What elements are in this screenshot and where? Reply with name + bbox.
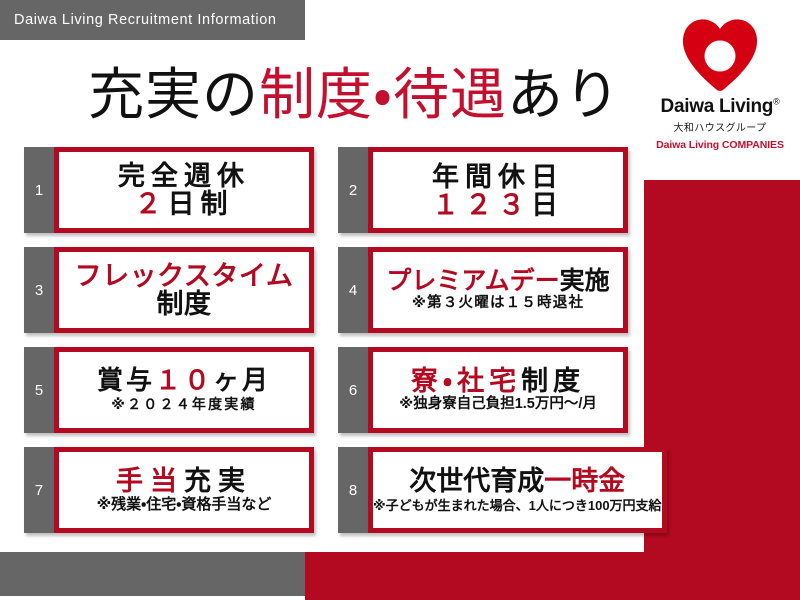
company-logo: Daiwa Living® 大和ハウスグループ Daiwa Living COM… [645,18,795,151]
benefit-number-1: 1 [24,147,54,233]
page-title: 充実の制度・待遇あり [88,52,621,128]
benefit-title-6-dark: 制度 [521,366,585,396]
benefit-box-6: 寮・社宅制度 ※独身寮自己負担1.5万円〜/月 [368,347,628,433]
benefit-item-2: 2 年間休日 １２３日 [338,147,628,233]
benefit-title-8: 次世代育成一時金 [409,467,625,495]
benefit-note-6: ※独身寮自己負担1.5万円〜/月 [399,397,597,413]
benefit-box-8: 次世代育成一時金 ※子どもが生まれた場合、1人につき100万円支給 [368,447,667,533]
benefit-title-2-line2-dark: 日 [531,190,564,220]
decorative-red-block-bottom [305,552,800,600]
benefit-note-5: ※２０２４年度実績 [111,397,256,412]
benefit-number-6: 6 [338,347,368,433]
benefit-title-1-line1: 完全週休 [118,161,250,191]
benefit-title-2: 年間休日 １２３日 [432,163,564,220]
page-title-segment-2: 制度・待遇 [259,50,507,131]
benefit-box-4: プレミアムデー実施 ※第３火曜は１５時退社 [368,247,628,333]
header-banner-label: Daiwa Living Recruitment Information [0,12,277,28]
logo-group-name: 大和ハウスグループ [674,119,767,134]
benefit-note-8: ※子どもが生まれた場合、1人につき100万円支給 [373,499,662,513]
benefit-title-2-line2-red: １２３ [432,190,531,220]
benefit-number-2: 2 [338,147,368,233]
page-title-segment-1: 充実の [88,50,259,131]
benefit-item-8: 8 次世代育成一時金 ※子どもが生まれた場合、1人につき100万円支給 [338,447,628,533]
benefit-box-5: 賞与１０ヶ月 ※２０２４年度実績 [54,347,314,433]
benefit-title-4-dark: 実施 [560,267,610,295]
benefit-box-7: 手当充実 ※残業・住宅・資格手当など [54,447,314,533]
benefit-title-4: プレミアムデー実施 [386,268,609,294]
benefit-box-3: フレックスタイム 制度 [54,247,314,333]
benefit-note-7: ※残業・住宅・資格手当など [97,497,272,514]
benefit-title-1-line2-red: ２ [135,189,168,219]
benefit-number-3: 3 [24,247,54,333]
decorative-red-block-right [644,180,800,600]
benefit-title-8-dark: 次世代育成 [409,466,544,496]
benefit-title-7-dark: 充実 [184,466,252,496]
benefit-title-3-line1: フレックスタイム [75,261,294,291]
registered-trademark-icon: ® [773,97,779,107]
daiwa-living-heart-ring-icon [681,18,759,94]
page-title-segment-3: あり [507,50,621,131]
benefit-item-7: 7 手当充実 ※残業・住宅・資格手当など [24,447,314,533]
benefit-title-6: 寮・社宅制度 [411,367,585,395]
benefit-item-5: 5 賞与１０ヶ月 ※２０２４年度実績 [24,347,314,433]
benefit-title-6-red: 寮・社宅 [411,366,521,396]
benefit-number-8: 8 [338,447,368,533]
benefits-grid: 1 完全週休 ２日制 2 年間休日 １２３日 3 フレックスタイム [24,140,628,540]
benefit-title-8-red: 一時金 [544,466,625,496]
benefit-title-3: フレックスタイム 制度 [75,262,294,319]
decorative-gray-block-bottom [0,552,305,596]
benefit-item-4: 4 プレミアムデー実施 ※第３火曜は１５時退社 [338,247,628,333]
benefit-number-4: 4 [338,247,368,333]
benefit-box-2: 年間休日 １２３日 [368,147,628,233]
benefit-box-1: 完全週休 ２日制 [54,147,314,233]
logo-wordmark-text: Daiwa Living [661,96,774,117]
benefit-title-5-dark-1: 賞与 [97,365,155,395]
benefit-title-1-line2-dark: 日制 [168,189,234,219]
header-banner: Daiwa Living Recruitment Information [0,0,305,40]
benefit-title-5: 賞与１０ヶ月 [97,367,271,394]
benefit-title-7: 手当充実 [116,467,252,495]
benefit-number-5: 5 [24,347,54,433]
benefit-title-5-dark-2: ヶ月 [213,365,271,395]
logo-wordmark: Daiwa Living® [661,96,780,118]
benefit-item-3: 3 フレックスタイム 制度 [24,247,314,333]
benefit-number-7: 7 [24,447,54,533]
benefit-title-4-red: プレミアムデー [386,267,559,295]
benefit-item-1: 1 完全週休 ２日制 [24,147,314,233]
benefit-item-6: 6 寮・社宅制度 ※独身寮自己負担1.5万円〜/月 [338,347,628,433]
benefit-title-7-red: 手当 [116,466,184,496]
benefit-title-1: 完全週休 ２日制 [118,162,250,219]
benefit-title-2-line1: 年間休日 [432,162,564,192]
logo-companies-tagline: Daiwa Living COMPANIES [656,139,784,151]
benefit-title-5-red: １０ [155,365,213,395]
benefit-title-3-line2: 制度 [157,289,212,319]
benefit-note-4: ※第３火曜は１５時退社 [412,296,584,312]
slide-canvas: Daiwa Living Recruitment Information 充実の… [0,0,800,600]
